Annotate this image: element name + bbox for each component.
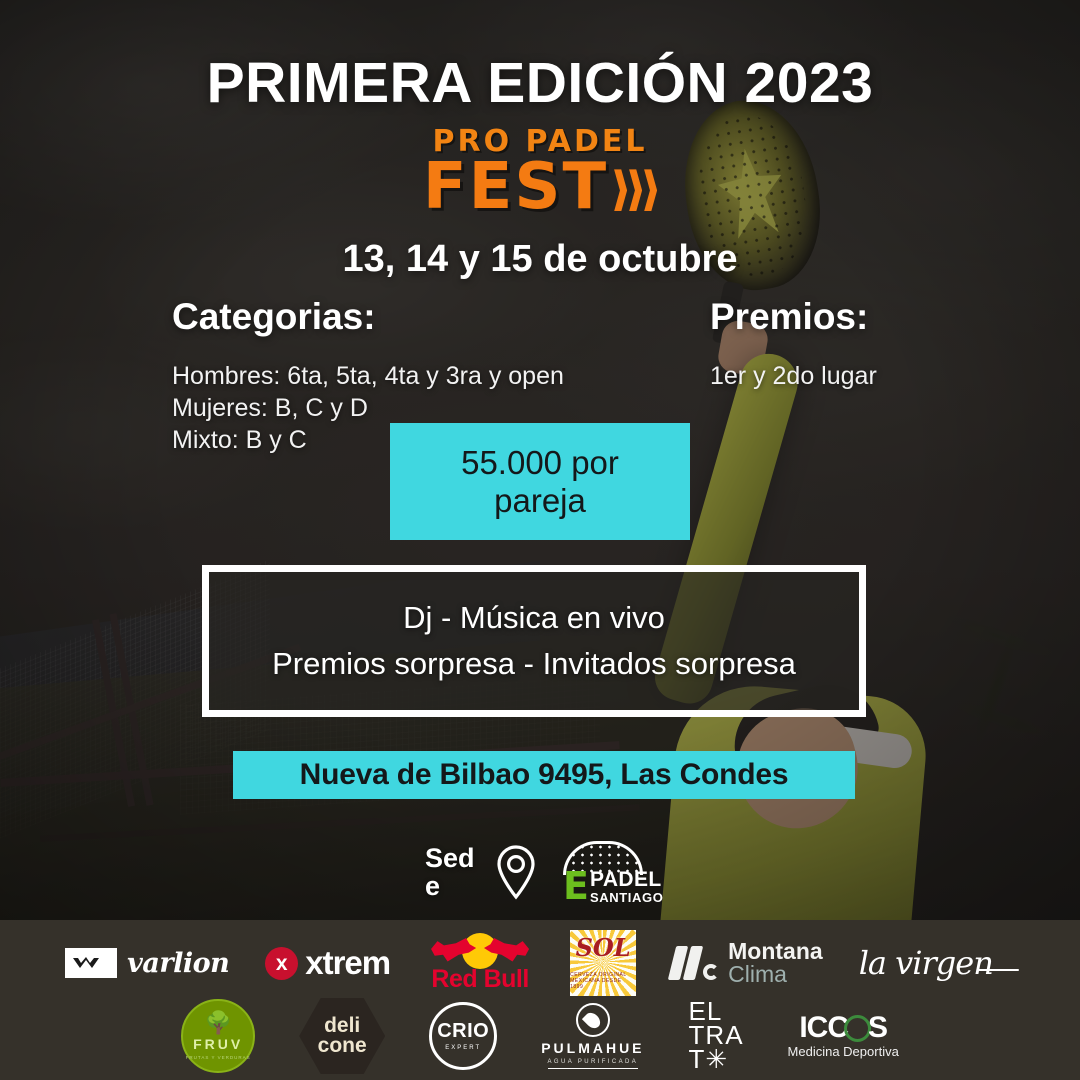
poster-content: PRIMERA EDICIÓN 2023 PRO PADEL FEST 13, …: [0, 0, 1080, 1080]
iccos-wreath-icon: [844, 1015, 871, 1042]
prizes-list: 1er y 2do lugar: [710, 360, 877, 392]
logo-fest-row: FEST: [423, 157, 657, 218]
iccos-wordmark: ICC S: [799, 1013, 887, 1043]
sponsor-pulmahue: PULMAHUE AGUA PURIFICADA: [541, 1003, 644, 1069]
sponsor-iccos: ICC S Medicina Deportiva: [788, 1013, 899, 1059]
venue-row: Sede E PADEL SANTIAGO: [425, 833, 675, 911]
red-bull-wordmark: Red Bull: [431, 965, 528, 994]
fruv-tree-icon: 🌳: [204, 1012, 231, 1034]
location-pin-icon: [495, 844, 537, 900]
event-logo: PRO PADEL FEST: [0, 124, 1080, 218]
red-bull-bulls-icon: [426, 933, 534, 967]
pulmahue-wordmark: PULMAHUE: [541, 1040, 644, 1056]
sol-tagline: CERVEZA ORIGINAL MEXICANA DESDE 1899: [570, 972, 636, 990]
sponsor-row-1: varlion x xtrem Red Bull SOL: [0, 932, 1080, 994]
varlion-wordmark: varlion: [127, 948, 229, 979]
fruv-tagline: FRUTAS Y VERDURAS: [186, 1055, 251, 1060]
categories-heading: Categorias:: [172, 296, 376, 338]
sponsor-row-2: 🌳 FRUV FRUTAS Y VERDURAS deli cone CRIO …: [0, 1000, 1080, 1072]
iccos-letters-2: S: [868, 1013, 887, 1043]
pulmahue-tagline: AGUA PURIFICADA: [548, 1059, 639, 1069]
category-line: Mujeres: B, C y D: [172, 392, 564, 424]
extras-line-1: Dj - Música en vivo: [403, 600, 665, 636]
crio-wordmark: CRIO: [437, 1021, 489, 1041]
prizes-heading: Premios:: [710, 296, 868, 338]
sponsor-varlion: varlion: [65, 948, 229, 979]
category-line: Hombres: 6ta, 5ta, 4ta y 3ra y open: [172, 360, 564, 392]
price-badge: 55.000 por pareja: [390, 423, 690, 540]
poster-canvas: PRIMERA EDICIÓN 2023 PRO PADEL FEST 13, …: [0, 0, 1080, 1080]
epadel-word-santiago: SANTIAGO: [590, 891, 663, 904]
montana-line-2: Clima: [728, 963, 823, 986]
montana-wordmark: Montana Clima: [728, 940, 823, 987]
extras-box: Dj - Música en vivo Premios sorpresa - I…: [202, 565, 866, 717]
delicone-line-1: deli: [324, 1016, 360, 1036]
sol-wordmark: SOL: [576, 936, 631, 960]
sponsor-deli-cone: deli cone: [299, 998, 385, 1074]
sponsor-el-trat: EL TRA T✳: [689, 1000, 744, 1072]
chevron-right-icon: [614, 169, 657, 211]
page-title: PRIMERA EDICIÓN 2023: [0, 50, 1080, 116]
epadel-santiago-logo: E PADEL SANTIAGO: [555, 841, 651, 903]
varlion-mark-icon: [65, 948, 117, 978]
sponsor-strip: varlion x xtrem Red Bull SOL: [0, 920, 1080, 1080]
sponsor-sol: SOL CERVEZA ORIGINAL MEXICANA DESDE 1899: [570, 930, 636, 996]
event-dates: 13, 14 y 15 de octubre: [0, 238, 1080, 281]
pulmahue-drop-icon: [576, 1003, 610, 1037]
prize-line: 1er y 2do lugar: [710, 360, 877, 392]
iccos-tagline: Medicina Deportiva: [788, 1044, 899, 1059]
sponsor-xtrem: x xtrem: [265, 944, 390, 982]
epadel-word-padel: PADEL: [590, 869, 662, 890]
venue-label: Sede: [425, 844, 477, 901]
epadel-letter-e: E: [563, 867, 589, 905]
xtrem-x-icon: x: [265, 947, 298, 980]
price-unit: pareja: [494, 482, 586, 519]
sponsor-red-bull: Red Bull: [426, 933, 534, 994]
xtrem-wordmark: xtrem: [305, 944, 390, 982]
montana-m-icon: [672, 946, 719, 980]
delicone-line-2: cone: [318, 1036, 367, 1056]
fruv-wordmark: FRUV: [193, 1036, 243, 1052]
logo-fest: FEST: [423, 157, 608, 218]
price-amount: 55.000 por: [461, 444, 619, 481]
crio-tagline: EXPERT: [445, 1045, 481, 1051]
sponsor-fruv: 🌳 FRUV FRUTAS Y VERDURAS: [181, 999, 255, 1073]
montana-line-1: Montana: [728, 940, 823, 963]
sponsor-montana-clima: Montana Clima: [672, 940, 823, 987]
iccos-letters-1: ICC: [799, 1013, 848, 1043]
extras-line-2: Premios sorpresa - Invitados sorpresa: [272, 646, 796, 682]
address-badge: Nueva de Bilbao 9495, Las Condes: [233, 751, 855, 799]
sponsor-crio-expert: CRIO EXPERT: [429, 1002, 497, 1070]
eltrat-line-3: T✳: [689, 1048, 729, 1072]
sponsor-la-virgen: la virgen: [859, 944, 1015, 982]
